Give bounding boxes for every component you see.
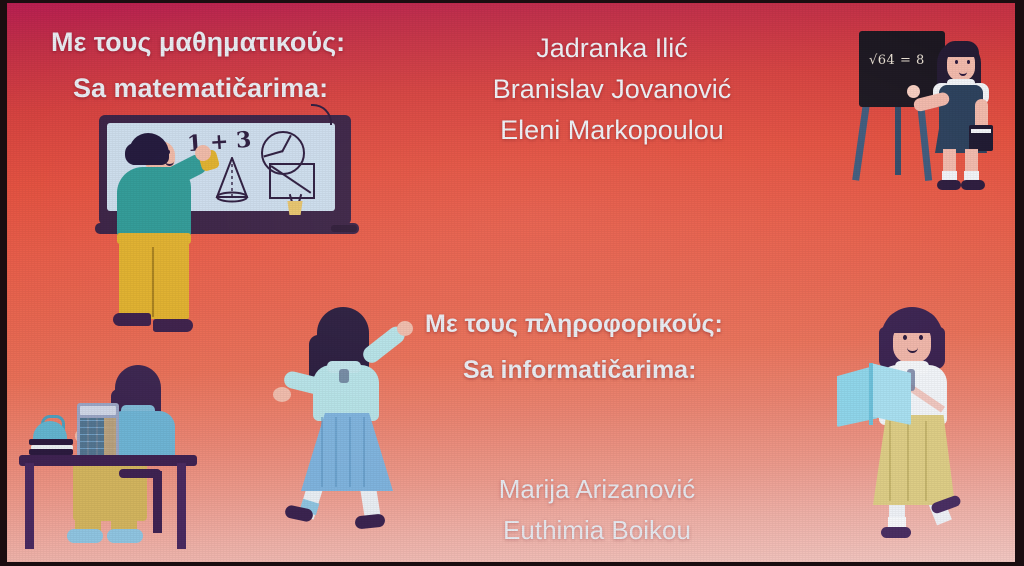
teacher-hand xyxy=(195,145,211,161)
easel-girl-book xyxy=(969,125,993,151)
easel-girl-bib xyxy=(949,87,973,109)
easel-leg-right xyxy=(917,103,932,181)
math-name-3: Eleni Markopoulou xyxy=(447,110,777,151)
teacher-shoe-right xyxy=(153,319,193,332)
desk-chair-leg xyxy=(153,471,162,533)
projected-slide: Με τους μαθηματικούς: Sa matematičarima:… xyxy=(7,3,1015,562)
desk-leg-right xyxy=(177,463,186,549)
easel-leg-center xyxy=(895,103,901,175)
reading-girl-pleat-2 xyxy=(907,421,909,501)
dancing-girl-shoe-right xyxy=(354,513,385,529)
informatics-names-list: Marija Arizanović Euthimia Boikou xyxy=(437,469,757,551)
reading-girl-eye-left xyxy=(903,335,907,340)
informatics-heading-serbian: Sa informatičarima: xyxy=(463,356,696,385)
desk-leg-left xyxy=(25,463,34,549)
dancing-girl-hand-raised xyxy=(397,321,413,336)
math-heading-greek: Με τους μαθηματικούς: xyxy=(51,27,345,58)
cone-icon xyxy=(215,157,249,203)
dancing-girl-skirt xyxy=(301,413,393,491)
teacher-pants xyxy=(119,241,189,319)
presentation-slide-photo: Με τους μαθηματικούς: Sa matematičarima:… xyxy=(0,0,1024,566)
reading-girl-skirt xyxy=(873,415,955,505)
easel-girl-shoe-left xyxy=(937,180,961,190)
teacher-shoe-left xyxy=(113,313,151,326)
easel-girl-eye-left xyxy=(955,60,958,64)
dancing-girl-pleat-1 xyxy=(321,417,323,487)
desk-student-shoe-left xyxy=(67,529,103,543)
dancing-girl-illustration xyxy=(269,305,434,530)
dancing-girl-pleat-2 xyxy=(335,417,337,487)
easel-leg-left xyxy=(852,103,870,181)
reading-girl-pleat-3 xyxy=(925,421,927,501)
easel-girl-eye-right xyxy=(967,60,970,64)
desk-student-illustration xyxy=(19,363,229,558)
math-name-1: Jadranka Ilić xyxy=(447,28,777,69)
reading-girl-illustration xyxy=(827,303,1002,538)
dancing-girl-ribbon xyxy=(339,369,349,383)
math-name-2: Branislav Jovanović xyxy=(447,69,777,110)
dancing-girl-pleat-4 xyxy=(363,417,365,487)
reading-girl-shoe-left xyxy=(881,527,911,538)
informatics-name-2: Euthimia Boikou xyxy=(437,510,757,551)
calculator-screen xyxy=(80,406,116,415)
reading-girl-pleat-1 xyxy=(889,421,891,501)
whiteboard-ledge-end xyxy=(331,225,357,232)
math-names-list: Jadranka Ilić Branislav Jovanović Eleni … xyxy=(447,28,777,151)
teacher-pants-seam xyxy=(152,247,154,317)
dancing-girl-pleat-3 xyxy=(349,417,351,487)
informatics-name-1: Marija Arizanović xyxy=(437,469,757,510)
easel-girl-shoe-right xyxy=(961,180,985,190)
calculator-keypad-accent xyxy=(104,418,116,455)
reading-girl-eye-right xyxy=(919,335,923,340)
open-book-spine xyxy=(869,363,873,425)
easel-girl-hand-with-chalk xyxy=(907,85,920,98)
math-heading-serbian: Sa matematičarima: xyxy=(73,73,328,104)
pie-chart-slice xyxy=(295,123,312,142)
desk-student-shoe-right xyxy=(107,529,143,543)
blackboard-equation: √64 = 8 xyxy=(869,53,925,68)
informatics-heading-greek: Με τους πληροφορικούς: xyxy=(425,310,723,339)
easel-girl-illustration: √64 = 8 xyxy=(855,25,1015,195)
open-book-right-page-icon xyxy=(871,363,911,425)
desk-top xyxy=(19,455,197,466)
easel-girl-fringe xyxy=(943,41,979,57)
reading-girl-bangs xyxy=(885,311,939,333)
dancing-girl-hand-out xyxy=(273,387,291,402)
